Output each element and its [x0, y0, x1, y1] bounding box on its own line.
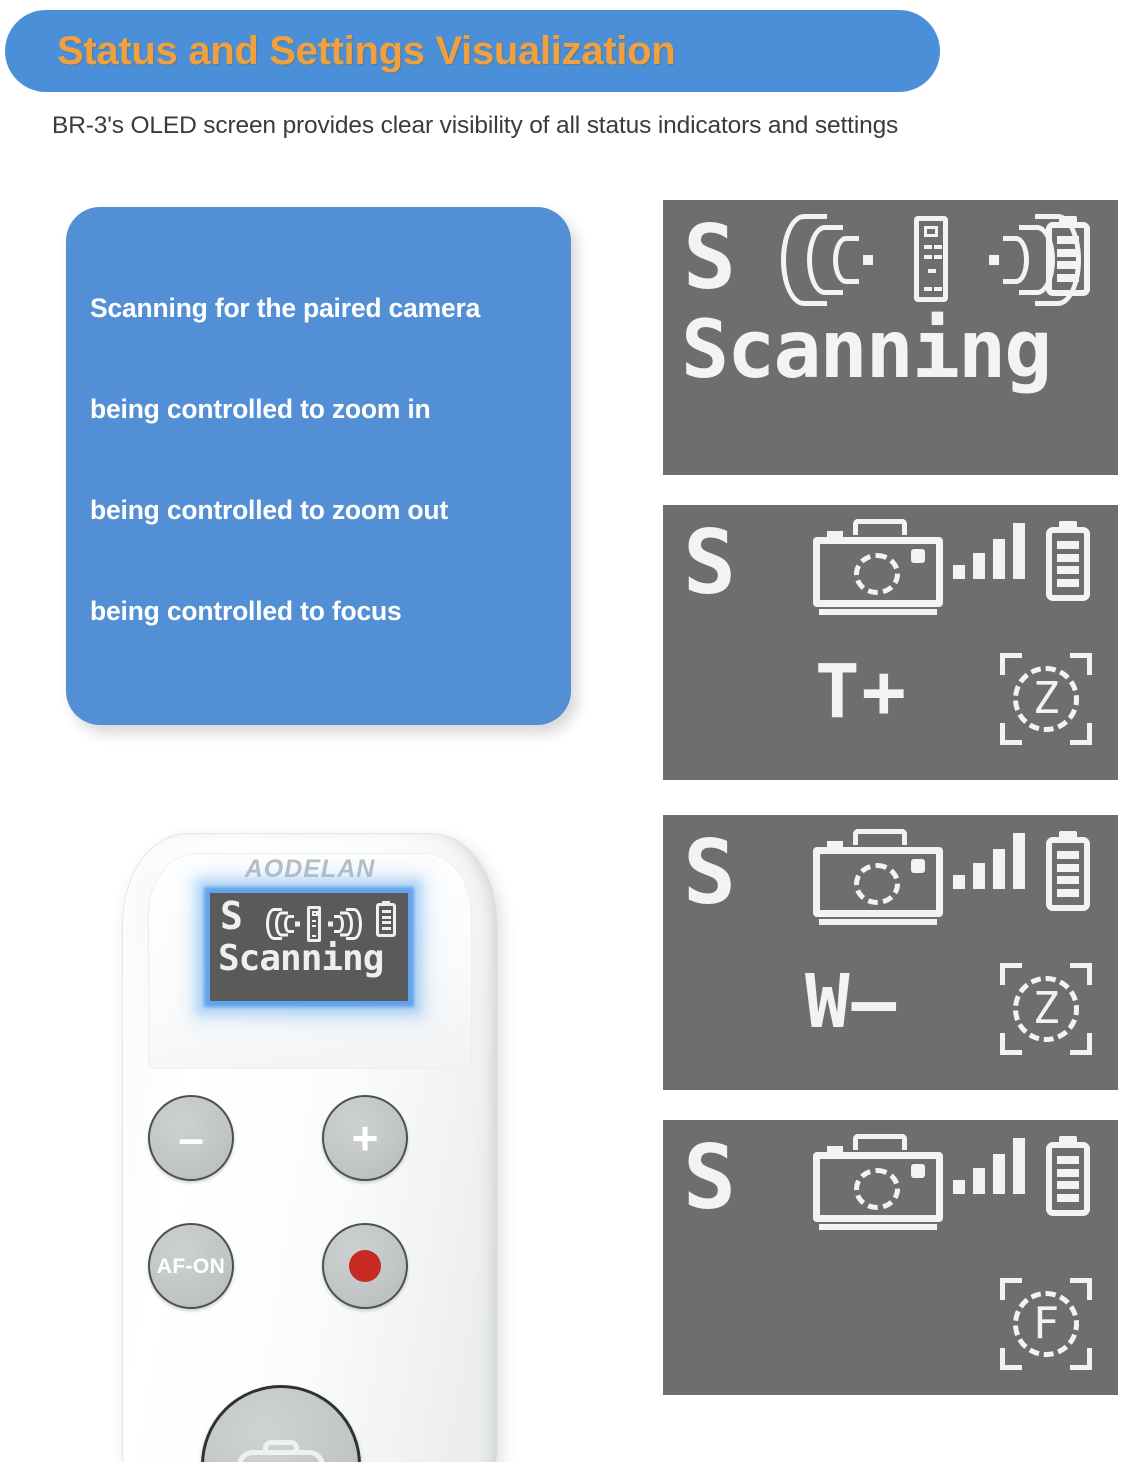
battery-icon	[1046, 216, 1090, 296]
status-bar: S	[663, 1120, 1118, 1238]
zoom-mode-badge: Z	[1000, 653, 1092, 745]
remote-signal-icon	[781, 210, 1081, 310]
mode-letter-s: S	[683, 214, 736, 302]
camera-icon	[813, 1134, 943, 1226]
af-on-button[interactable]: AF-ON	[148, 1223, 234, 1309]
zoom-in-button[interactable]: +	[322, 1095, 408, 1181]
info-line-scanning: Scanning for the paired camera	[90, 293, 571, 324]
status-text-scanning: Scanning	[681, 310, 1050, 390]
zoom-out-button-label: –	[178, 1115, 204, 1161]
signal-strength-icon	[953, 831, 1027, 889]
signal-strength-icon	[953, 1136, 1027, 1194]
status-bar: S	[663, 815, 1118, 933]
oled-screen-zoom-out: S W— Z	[663, 815, 1118, 1090]
info-line-focus: being controlled to focus	[90, 596, 571, 627]
af-on-button-label: AF-ON	[157, 1256, 226, 1277]
brand-logo: AODELAN	[122, 855, 498, 884]
camera-icon	[237, 1440, 325, 1462]
status-bar: S	[663, 200, 1118, 318]
oled-screen-focus: S F	[663, 1120, 1118, 1395]
device-status-text: Scanning	[218, 941, 383, 977]
mode-letter-s: S	[683, 829, 736, 917]
zoom-action-label: W—	[805, 965, 898, 1039]
battery-icon	[1046, 831, 1090, 911]
camera-icon	[813, 829, 943, 921]
battery-icon	[1046, 521, 1090, 601]
badge-glyph-z: Z	[1033, 677, 1060, 721]
signal-strength-icon	[953, 521, 1027, 579]
status-bar: S	[663, 505, 1118, 623]
oled-screen-scanning: S	[663, 200, 1118, 475]
header-pill: Status and Settings Visualization	[5, 10, 940, 92]
info-card: Scanning for the paired camera being con…	[66, 207, 571, 725]
page-title: Status and Settings Visualization	[57, 29, 675, 74]
record-button[interactable]	[322, 1223, 408, 1309]
badge-glyph-z: Z	[1033, 987, 1060, 1031]
zoom-out-button[interactable]: –	[148, 1095, 234, 1181]
page-subtitle: BR-3's OLED screen provides clear visibi…	[52, 112, 898, 140]
info-line-zoom-in: being controlled to zoom in	[90, 394, 571, 425]
device-mode-letter: S	[220, 897, 243, 935]
mode-letter-s: S	[683, 519, 736, 607]
info-line-zoom-out: being controlled to zoom out	[90, 495, 571, 526]
camera-icon	[813, 519, 943, 611]
remote-control-device: AODELAN S	[122, 833, 498, 1462]
zoom-in-button-label: +	[352, 1115, 379, 1161]
record-dot-icon	[349, 1250, 381, 1282]
device-oled-screen: S	[210, 893, 408, 1001]
oled-screen-zoom-in: S T+ Z	[663, 505, 1118, 780]
badge-glyph-f: F	[1033, 1302, 1060, 1346]
mode-letter-s: S	[683, 1134, 736, 1222]
battery-icon	[1046, 1136, 1090, 1216]
focus-mode-badge: F	[1000, 1278, 1092, 1370]
page-root: Status and Settings Visualization BR-3's…	[0, 0, 1134, 1462]
zoom-mode-badge: Z	[1000, 963, 1092, 1055]
battery-icon	[376, 901, 396, 937]
zoom-action-label: T+	[815, 655, 908, 729]
remote-body-icon	[914, 216, 948, 302]
